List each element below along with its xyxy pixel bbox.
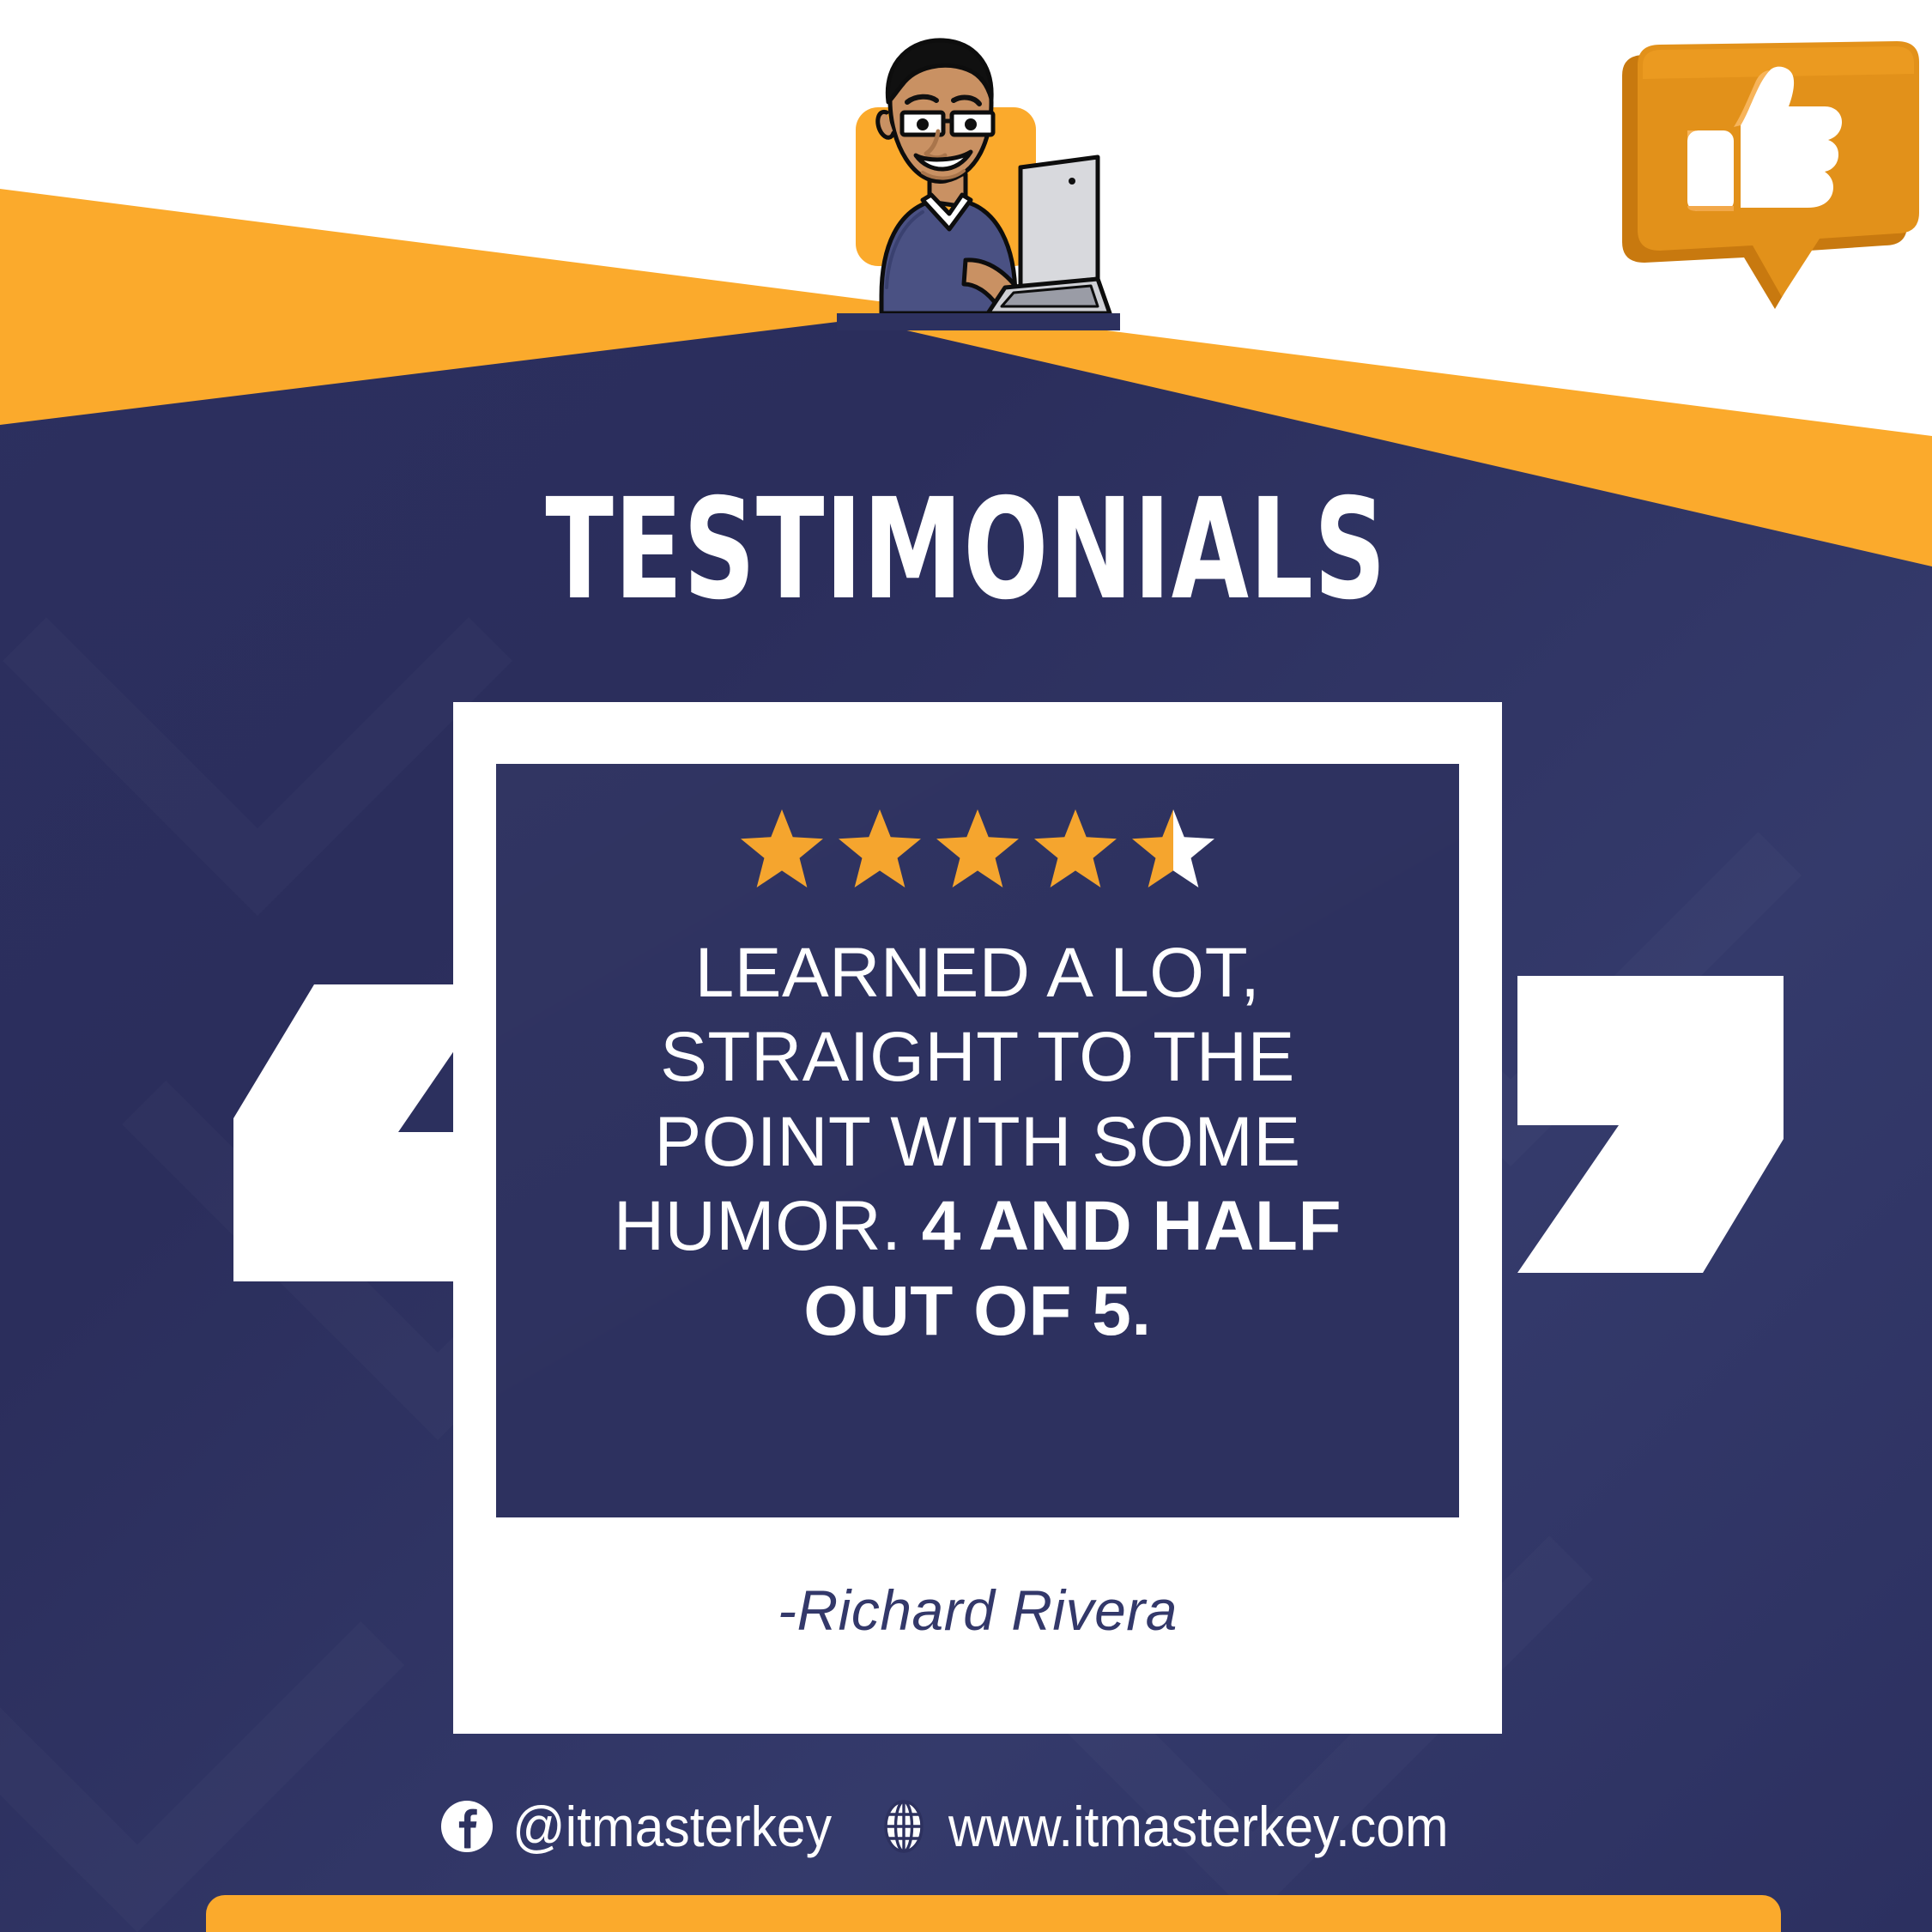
testimonial-quote: LEARNED A LOT, STRAIGHT TO THE POINT WIT… xyxy=(556,931,1399,1354)
testimonial-author: -Richard Rivera xyxy=(453,1578,1502,1643)
cartoon-man-at-laptop-icon xyxy=(837,30,1120,330)
website-url[interactable]: www.itmasterkey.com xyxy=(948,1794,1449,1859)
star-full-icon xyxy=(936,807,1020,887)
star-half-icon xyxy=(1131,807,1215,887)
globe-icon[interactable] xyxy=(878,1800,930,1853)
star-full-icon xyxy=(740,807,824,887)
star-rating xyxy=(496,807,1459,887)
page-title: TESTIMONIALS xyxy=(193,481,1739,620)
star-full-icon xyxy=(1033,807,1117,887)
close-quote-mark-icon xyxy=(1511,966,1802,1296)
thumbs-up-icon xyxy=(1605,26,1931,326)
facebook-icon[interactable] xyxy=(440,1800,494,1853)
avatar-illustration xyxy=(837,30,1120,330)
thumbs-up-badge xyxy=(1605,26,1931,326)
social-card-canvas: TESTIMONIALS xyxy=(0,0,1932,1932)
footer-contact-bar: @itmasterkey www.itmasterkey.com xyxy=(0,1794,1932,1859)
bottom-accent-bar xyxy=(206,1895,1781,1932)
testimonial-card: LEARNED A LOT, STRAIGHT TO THE POINT WIT… xyxy=(453,702,1502,1734)
testimonial-card-inner: LEARNED A LOT, STRAIGHT TO THE POINT WIT… xyxy=(496,764,1459,1517)
facebook-handle[interactable]: @itmasterkey xyxy=(512,1794,832,1859)
star-full-icon xyxy=(838,807,922,887)
